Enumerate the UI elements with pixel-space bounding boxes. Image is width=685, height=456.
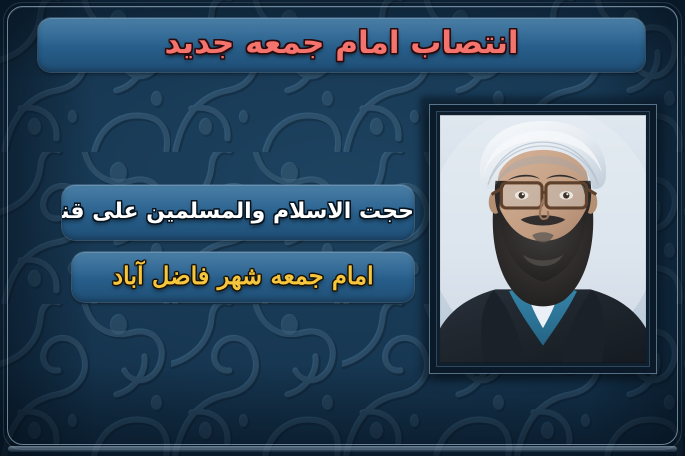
cleric-role: امام جمعه شهر فاضل آباد: [112, 264, 373, 291]
portrait-frame-inner: [436, 111, 650, 367]
cleric-role-plaque: امام جمعه شهر فاضل آباد: [72, 252, 414, 302]
poster-canvas: انتصاب امام جمعه جدید حجت الاسلام والمسل…: [0, 0, 685, 456]
portrait-frame: [430, 105, 656, 373]
cleric-name: حجت الاسلام والمسلمین علی قنبری: [62, 201, 414, 225]
title-plaque: انتصاب امام جمعه جدید: [38, 18, 645, 72]
portrait-photo: [440, 115, 646, 363]
page-title: انتصاب امام جمعه جدید: [164, 28, 518, 62]
portrait-photo-icon: [440, 115, 646, 363]
cleric-name-plaque: حجت الاسلام والمسلمین علی قنبری: [62, 185, 414, 240]
